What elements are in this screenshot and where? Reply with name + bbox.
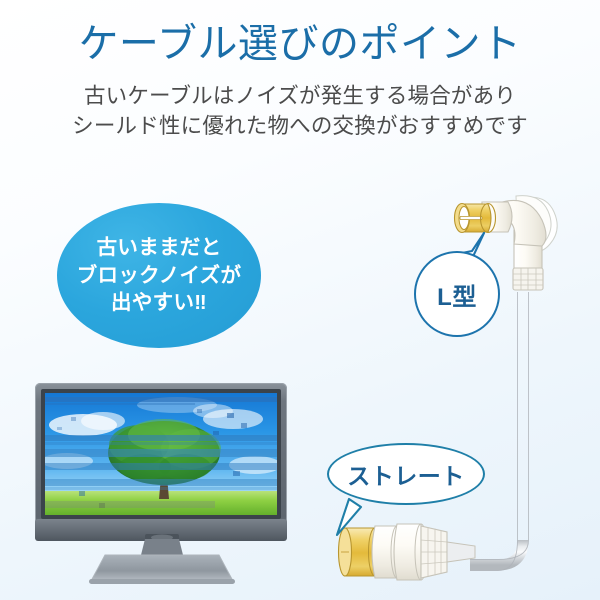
l-type-callout-circle: L型 (414, 251, 500, 337)
straight-callout-label: ストレート (347, 457, 465, 491)
subtitle-line-1: 古いケーブルはノイズが発生する場合があり (0, 81, 600, 112)
television-illustration (27, 379, 295, 595)
bubble-line-2: ブロックノイズが (77, 262, 242, 290)
page-title: ケーブル選びのポイント (0, 22, 600, 67)
headline-block: ケーブル選びのポイント 古いケーブルはノイズが発生する場合があり シールド性に優… (0, 22, 600, 142)
subtitle-line-2: シールド性に優れた物への交換がおすすめです (0, 111, 600, 142)
page-subtitle: 古いケーブルはノイズが発生する場合があり シールド性に優れた物への交換がおすすめ… (0, 81, 600, 142)
straight-callout-ellipse: ストレート (327, 443, 485, 505)
block-noise-callout-text: 古いままだと ブロックノイズが 出やすい‼ (77, 234, 242, 318)
block-noise-callout-bubble: 古いままだと ブロックノイズが 出やすい‼ (57, 203, 261, 348)
l-type-callout: L型 (414, 251, 504, 341)
l-type-callout-label: L型 (437, 277, 477, 312)
straight-callout: ストレート (327, 443, 487, 519)
bubble-line-1: 古いままだと (77, 234, 242, 262)
bubble-line-3: 出やすい‼ (77, 289, 242, 317)
poster-canvas: ケーブル選びのポイント 古いケーブルはノイズが発生する場合があり シールド性に優… (0, 0, 600, 600)
